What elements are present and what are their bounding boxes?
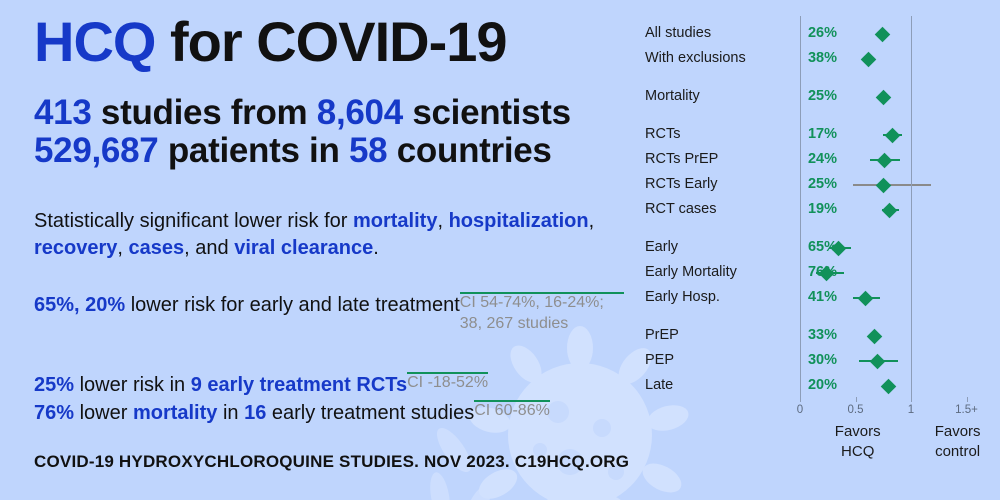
text-run: countries xyxy=(387,131,551,170)
forest-row-value: 20% xyxy=(808,377,837,393)
axis-tickmark xyxy=(967,397,968,402)
text-run: hospitalization xyxy=(449,210,589,232)
text-run: Statistically significant lower risk for xyxy=(34,210,353,232)
text-run: 76% xyxy=(34,402,74,424)
forest-point-diamond xyxy=(861,51,877,67)
text-run: CI -18-52% xyxy=(407,372,488,374)
forest-row-label: Early Hosp. xyxy=(645,289,720,305)
forest-row-label: PrEP xyxy=(645,327,679,343)
text-run: 16 xyxy=(244,402,266,424)
forest-row-label: Early xyxy=(645,239,678,255)
forest-point-diamond xyxy=(875,177,891,193)
text-run: , and xyxy=(184,237,234,259)
forest-row-label: RCTs PrEP xyxy=(645,151,718,167)
favors-hcq-label-line2: HCQ xyxy=(803,443,913,460)
axis-tickmark xyxy=(911,397,912,402)
text-run: , xyxy=(437,210,448,232)
axis-tick-label: 1 xyxy=(886,404,936,416)
forest-point-diamond xyxy=(882,202,898,218)
text-run: mortality xyxy=(133,402,217,424)
text-run: 529,687 xyxy=(34,131,158,170)
text-run: lower risk for early and late treatment xyxy=(125,294,460,316)
forest-row-value: 41% xyxy=(808,289,837,305)
forest-row-value: 30% xyxy=(808,352,837,368)
axis-tickmark xyxy=(856,397,857,402)
favors-hcq-label-line1: Favors xyxy=(803,423,913,440)
text-run: patients in xyxy=(158,131,349,170)
forest-row-value: 24% xyxy=(808,151,837,167)
text-run: CI 60-86% xyxy=(474,400,550,402)
forest-row-value: 19% xyxy=(808,201,837,217)
page-title: HCQ for COVID-19 xyxy=(34,14,507,70)
forest-point-diamond xyxy=(884,127,900,143)
forest-point-diamond xyxy=(867,328,883,344)
title-rest: for COVID-19 xyxy=(155,10,506,73)
text-run: mortality xyxy=(353,210,437,232)
text-run: cases xyxy=(129,237,185,259)
forest-row-value: 17% xyxy=(808,126,837,142)
forest-row-label: Mortality xyxy=(645,88,700,104)
forest-point-diamond xyxy=(858,290,874,306)
forest-row-label: RCTs Early xyxy=(645,176,718,192)
left-content-panel: HCQ for COVID-19 413 studies from 8,604 … xyxy=(0,0,636,500)
text-run: studies from xyxy=(92,93,317,132)
axis-tick-label: 0 xyxy=(775,404,825,416)
forest-row-label: With exclusions xyxy=(645,50,746,66)
axis-left-boundary-line xyxy=(800,16,801,399)
axis-tickmark xyxy=(800,397,801,402)
text-run: CI 54-74%, 16-24%; 38, 267 studies xyxy=(460,292,624,294)
forest-point-diamond xyxy=(874,26,890,42)
forest-row-label: All studies xyxy=(645,25,711,41)
text-run: . xyxy=(373,237,379,259)
text-run: , xyxy=(117,237,128,259)
poster-root: HCQ for COVID-19 413 studies from 8,604 … xyxy=(0,0,1000,500)
forest-row-label: RCTs xyxy=(645,126,680,142)
text-run: scientists xyxy=(403,93,571,132)
favors-control-label-line2: control xyxy=(903,443,1000,460)
forest-ci-line xyxy=(853,184,931,186)
reference-line-1 xyxy=(911,16,912,399)
text-run: 413 xyxy=(34,93,92,132)
text-run: viral clearance xyxy=(234,237,373,259)
footer-source: COVID-19 HYDROXYCHLOROQUINE STUDIES. NOV… xyxy=(34,452,629,472)
forest-point-diamond xyxy=(875,89,891,105)
text-run: recovery xyxy=(34,237,117,259)
forest-row-label: PEP xyxy=(645,352,674,368)
summary-mortality: 76% lower mortality in 16 early treatmen… xyxy=(34,400,624,427)
forest-row-value: 26% xyxy=(808,25,837,41)
text-run: lower xyxy=(74,402,133,424)
text-run: 58 xyxy=(349,131,387,170)
summary-significance: Statistically significant lower risk for… xyxy=(34,208,624,261)
favors-control-label-line1: Favors xyxy=(903,423,1000,440)
text-run: 9 early treatment RCTs xyxy=(191,374,407,396)
forest-plot: All studies26%With exclusions38%Mortalit… xyxy=(636,0,1000,500)
axis-tick-label: 0.5 xyxy=(831,404,881,416)
forest-row-value: 25% xyxy=(808,176,837,192)
text-run: 65%, 20% xyxy=(34,294,125,316)
text-run: , xyxy=(589,210,595,232)
forest-row-label: Early Mortality xyxy=(645,264,737,280)
forest-point-diamond xyxy=(881,378,897,394)
subtitle-line-1: 413 studies from 8,604 scientists xyxy=(34,95,571,130)
forest-point-diamond xyxy=(877,152,893,168)
summary-rcts: 25% lower risk in 9 early treatment RCTs… xyxy=(34,372,624,399)
title-brand: HCQ xyxy=(34,10,155,73)
summary-early-late: 65%, 20% lower risk for early and late t… xyxy=(34,292,624,319)
forest-row-label: RCT cases xyxy=(645,201,716,217)
forest-row-label: Late xyxy=(645,377,673,393)
text-run: in xyxy=(217,402,244,424)
axis-tick-label: 1.5+ xyxy=(942,404,992,416)
text-run: lower risk in xyxy=(74,374,191,396)
text-run: early treatment studies xyxy=(266,402,474,424)
subtitle-line-2: 529,687 patients in 58 countries xyxy=(34,133,552,168)
text-run: 8,604 xyxy=(317,93,403,132)
forest-row-value: 33% xyxy=(808,327,837,343)
text-run: 25% xyxy=(34,374,74,396)
forest-point-diamond xyxy=(870,353,886,369)
forest-row-value: 38% xyxy=(808,50,837,66)
forest-row-value: 25% xyxy=(808,88,837,104)
